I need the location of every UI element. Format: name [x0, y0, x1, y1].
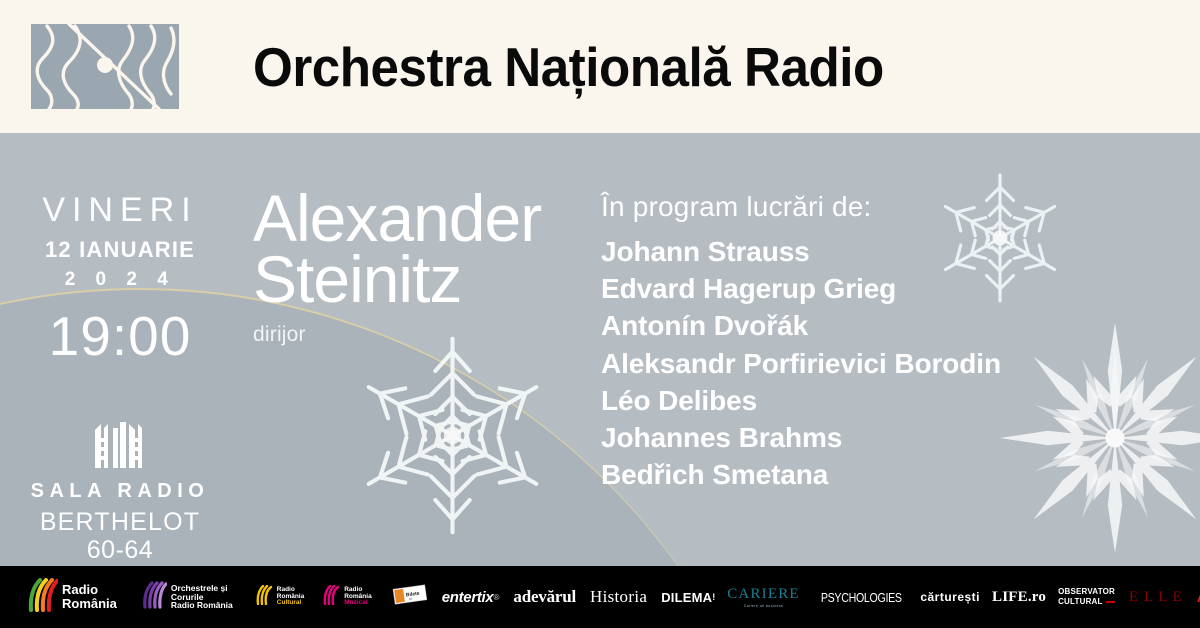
event-year: 2 0 2 4: [0, 270, 240, 289]
adevarul-logo: adevărul: [513, 587, 576, 607]
sponsor-entertix[interactable]: entertix ®: [442, 589, 500, 606]
list-item: Edvard Hagerup Grieg: [601, 270, 1001, 307]
event-date-block: VINERI 12 IANUARIE 2 0 2 4 19:00: [0, 193, 240, 364]
conductor-last-name: Steinitz: [253, 249, 541, 310]
cariere-logo: CARIERE: [727, 587, 800, 602]
event-time: 19:00: [0, 309, 240, 364]
cariere-tagline: Cariere de business: [744, 604, 784, 608]
venue-street: BERTHELOT: [0, 510, 240, 535]
sponsor-label: RadioRomânia: [62, 583, 117, 610]
sponsor-psychologies[interactable]: PSYCHOLOGIES: [812, 590, 911, 605]
concert-poster: Orchestra Națională Radio: [0, 0, 1200, 628]
program-heading: În program lucrări de:: [601, 193, 1001, 221]
entertix-logo: entertix: [442, 589, 494, 606]
poster-body: VINERI 12 IANUARIE 2 0 2 4 19:00: [0, 133, 1200, 566]
program-block: În program lucrări de: Johann Strauss Ed…: [601, 193, 1001, 494]
conductor-block: Alexander Steinitz dirijor: [253, 188, 541, 347]
radio-muzical-logo: [322, 585, 340, 610]
observator-cultural-logo: OBSERVATOR: [1058, 587, 1115, 597]
orchestre-coruri-logo: [141, 581, 167, 614]
composer-list: Johann Strauss Edvard Hagerup Grieg Anto…: [601, 233, 1001, 494]
list-item: Antonín Dvořák: [601, 307, 1001, 344]
list-item: Johannes Brahms: [601, 419, 1001, 456]
sponsor-dilema[interactable]: DILEMA !: [661, 590, 715, 605]
event-weekday: VINERI: [0, 193, 240, 227]
psychologies-logo: PSYCHOLOGIES: [821, 590, 902, 605]
sponsor-label: Orchestrele șiCorurileRadio România: [171, 584, 233, 611]
ticket-icon: Bilete .ro: [392, 583, 428, 612]
venue-name: SALA RADIO: [0, 481, 240, 501]
sponsor-bar: RadioRomânia Orchestrele șiCorurileRadio…: [0, 566, 1200, 628]
list-item: Johann Strauss: [601, 233, 1001, 270]
list-item: Aleksandr Porfirievici Borodin: [601, 345, 1001, 382]
sponsor-observator-cultural[interactable]: OBSERVATOR CULTURAL: [1058, 587, 1115, 607]
sponsor-label: RadioRomâniaMuzical: [344, 587, 371, 607]
event-date: 12 IANUARIE: [0, 239, 240, 261]
sponsor-bilete-ro[interactable]: Bilete .ro: [392, 583, 428, 612]
carturesti-logo: cărturești: [920, 590, 980, 604]
sponsor-carturesti[interactable]: cărturești: [920, 590, 980, 604]
sponsor-orchestre-coruri[interactable]: Orchestrele șiCorurileRadio România: [141, 581, 233, 614]
radio-cultural-logo: [255, 585, 273, 610]
venue-block: SALA RADIO BERTHELOT 60-64: [0, 418, 240, 563]
snowflake-icon: [345, 328, 560, 543]
list-item: Léo Delibes: [601, 382, 1001, 419]
sponsor-cariere[interactable]: CARIERE Cariere de business: [727, 587, 800, 608]
list-item: Bedřich Smetana: [601, 456, 1001, 493]
sponsor-adevarul[interactable]: adevărul: [513, 587, 576, 607]
page-title-text: Orchestra Națională Radio: [253, 35, 884, 99]
conductor-role: dirijor: [253, 323, 541, 347]
dilema-logo: DILEMA: [661, 590, 712, 605]
historia-logo: Historia: [590, 587, 647, 607]
venue-number: 60-64: [0, 538, 240, 563]
sponsor-radio-romania[interactable]: RadioRomânia: [26, 578, 117, 617]
sala-radio-logo: [0, 418, 240, 474]
elle-logo: E L L E: [1129, 589, 1183, 606]
sponsor-elle[interactable]: E L L E: [1129, 589, 1183, 606]
sponsor-historia[interactable]: Historia: [590, 587, 647, 607]
sponsor-life-ro[interactable]: LIFE.ro: [992, 589, 1046, 606]
red-dash-icon: [1106, 601, 1115, 603]
radio-waves-logo: [31, 24, 179, 109]
sponsor-radio-muzical[interactable]: RadioRomâniaMuzical: [322, 585, 371, 610]
conductor-first-name: Alexander: [253, 188, 541, 249]
sponsor-radio-cultural[interactable]: RadioRomâniaCultural: [255, 585, 304, 610]
radio-romania-logo: [26, 578, 58, 617]
observator-cultural-line2: CULTURAL: [1058, 597, 1103, 607]
snowflake-icon: [995, 318, 1200, 558]
life-ro-logo: LIFE.ro: [992, 589, 1046, 606]
poster-header: Orchestra Națională Radio: [0, 0, 1200, 133]
sponsor-label: RadioRomâniaCultural: [277, 587, 304, 607]
page-title: Orchestra Națională Radio: [253, 35, 931, 99]
